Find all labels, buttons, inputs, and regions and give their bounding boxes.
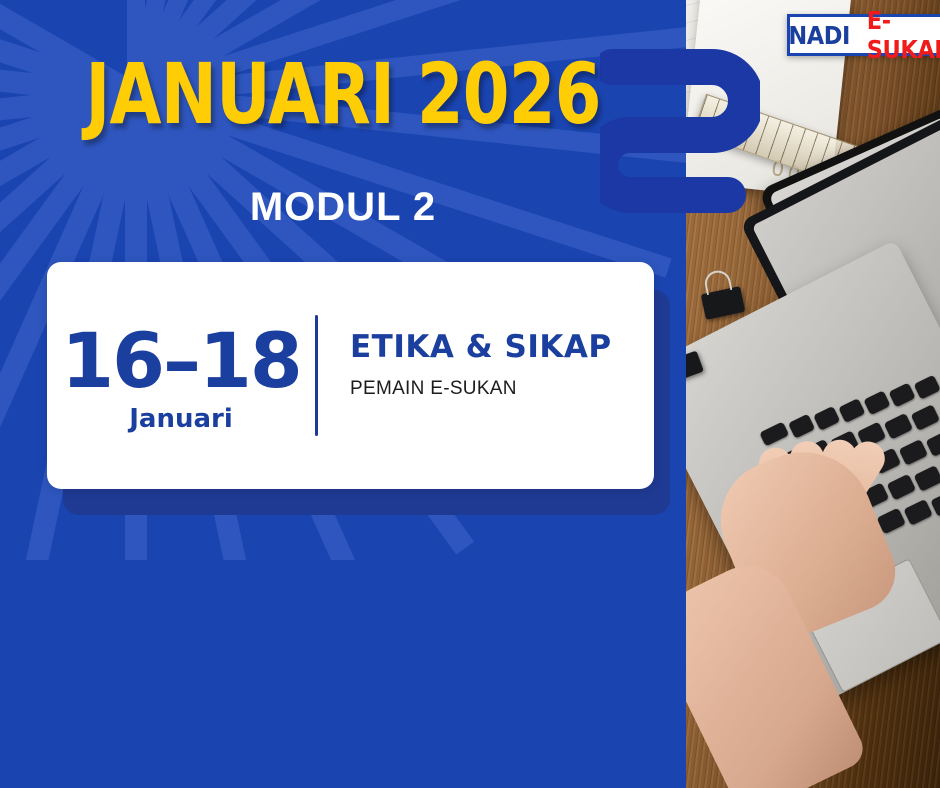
date-range: 16–18	[61, 325, 301, 397]
poster-canvas: NADI E-SUKAN JANUARI 2026 MODUL 2 16–18 …	[0, 0, 940, 788]
schedule-card: 16–18 Januari ETIKA & SIKAP PEMAIN E-SUK…	[47, 262, 654, 489]
hand-typing	[685, 395, 925, 788]
page-subtitle: MODUL 2	[0, 185, 686, 230]
logo-nadi-text: NADI	[788, 21, 849, 50]
page-title: JANUARI 2026	[69, 52, 618, 136]
schedule-date-block: 16–18 Januari	[47, 262, 315, 489]
nadi-esukan-logo: NADI E-SUKAN	[787, 14, 940, 56]
schedule-detail-block: ETIKA & SIKAP PEMAIN E-SUKAN	[318, 262, 654, 489]
course-title: ETIKA & SIKAP	[350, 329, 654, 365]
course-subtitle: PEMAIN E-SUKAN	[350, 378, 654, 400]
logo-esukan-text: E-SUKAN	[867, 6, 940, 64]
date-month: Januari	[129, 404, 233, 434]
